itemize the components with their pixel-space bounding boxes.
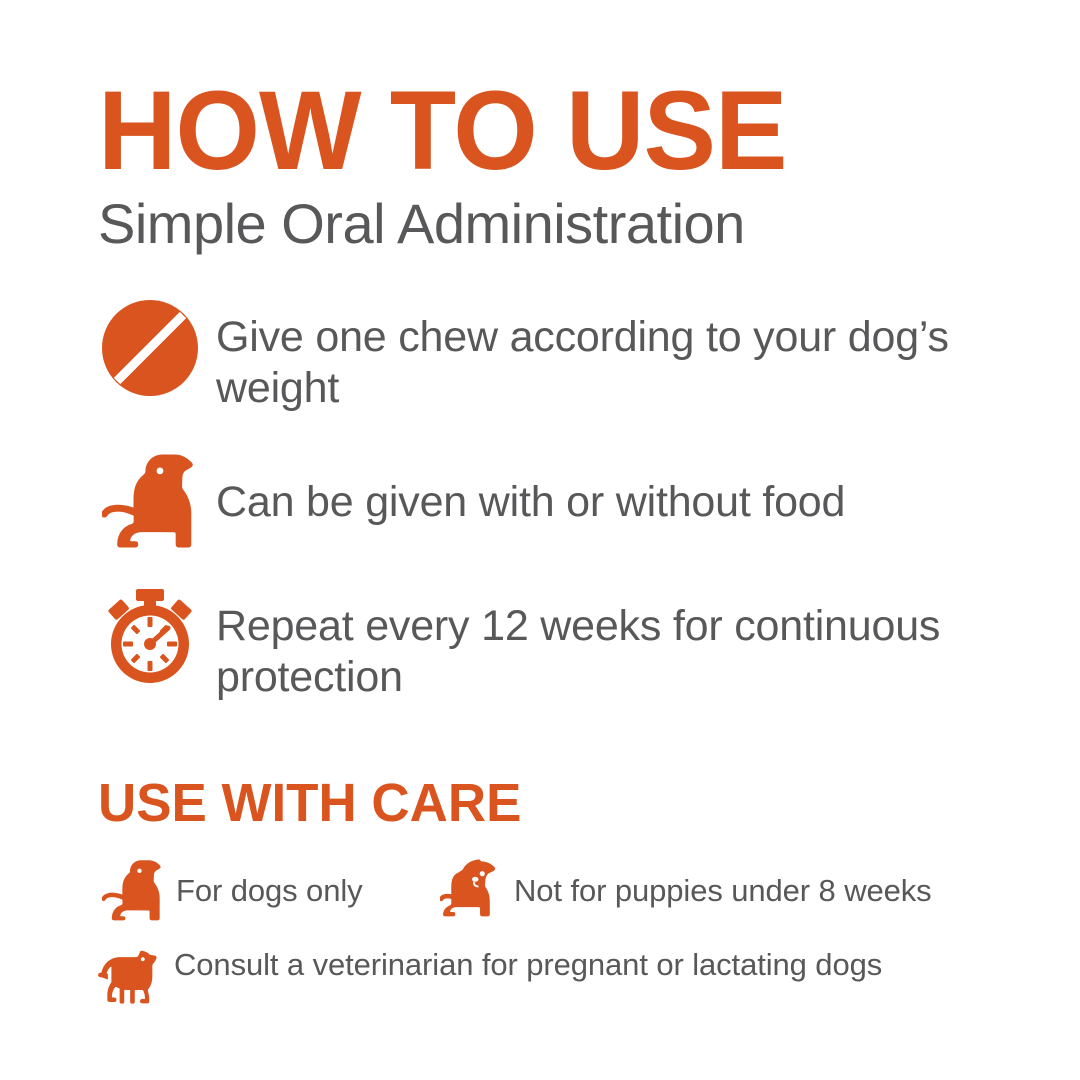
step-item: Give one chew according to your dog’s we…: [98, 296, 1048, 413]
step-item: Repeat every 12 weeks for continuous pro…: [98, 585, 1048, 702]
steps-list: Give one chew according to your dog’s we…: [98, 296, 1048, 737]
care-item: Consult a veterinarian for pregnant or l…: [98, 940, 882, 1014]
care-item: Not for puppies under 8 weeks: [438, 852, 932, 926]
use-with-care-section: USE WITH CARE For dogs only: [98, 776, 1058, 1028]
sitting-puppy-icon: [438, 852, 506, 926]
stopwatch-icon: [98, 585, 202, 689]
how-to-use-infographic: HOW TO USE Simple Oral Administration Gi…: [0, 0, 1080, 1080]
step-label: Repeat every 12 weeks for continuous pro…: [202, 585, 1048, 702]
care-item: For dogs only: [98, 852, 438, 926]
step-label: Can be given with or without food: [202, 447, 1048, 528]
care-label: Not for puppies under 8 weeks: [506, 852, 932, 910]
header: HOW TO USE Simple Oral Administration: [98, 78, 998, 252]
step-label: Give one chew according to your dog’s we…: [202, 296, 1048, 413]
pill-tablet-icon: [98, 296, 202, 400]
step-item: Can be given with or without food: [98, 447, 1048, 551]
standing-dog-icon: [98, 940, 166, 1014]
page-title: HOW TO USE: [98, 78, 971, 184]
care-label: For dogs only: [168, 852, 363, 910]
care-label: Consult a veterinarian for pregnant or l…: [166, 940, 882, 984]
care-row: Consult a veterinarian for pregnant or l…: [98, 940, 1058, 1014]
sitting-dog-icon: [98, 852, 168, 926]
page-subtitle: Simple Oral Administration: [98, 196, 998, 252]
sitting-dog-icon: [98, 447, 202, 551]
care-row: For dogs only Not for: [98, 852, 1058, 926]
care-section-title: USE WITH CARE: [98, 776, 1039, 830]
